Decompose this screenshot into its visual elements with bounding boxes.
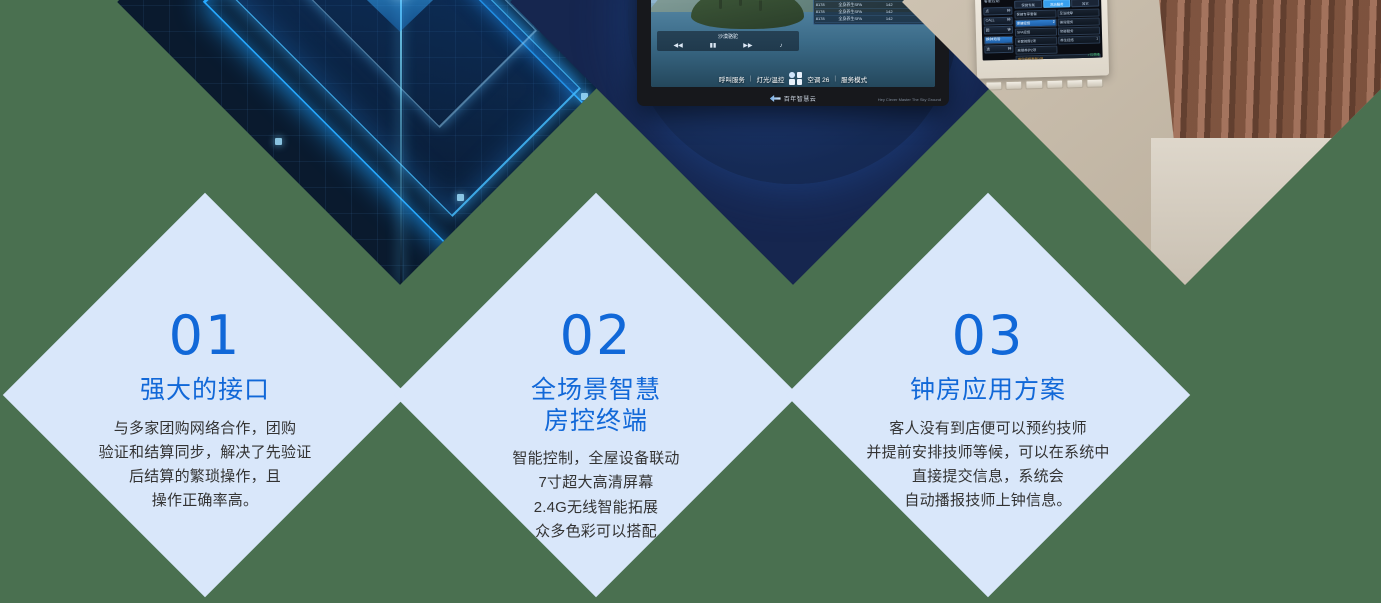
card-title: 强大的接口 bbox=[140, 375, 270, 406]
wall-control-panel[interactable]: 客服控制 点 钟 CALL 钟 圆 bbox=[974, 0, 1108, 78]
row-label: 全套按摩2项 bbox=[1017, 38, 1036, 43]
hard-key[interactable] bbox=[1025, 80, 1042, 89]
list-item[interactable]: SPA经络 bbox=[1014, 27, 1056, 36]
pause-icon[interactable]: ▮▮ bbox=[710, 42, 717, 49]
item-label: 换钟泡浴 bbox=[986, 37, 1001, 42]
item-label: 选 bbox=[986, 47, 990, 52]
brand-logo-icon bbox=[770, 95, 781, 102]
wallpaper-island bbox=[691, 0, 805, 29]
dock-divider: | bbox=[750, 75, 752, 82]
list-item[interactable]: 高端养护2项 bbox=[1015, 45, 1057, 54]
cell-guest: 8178 bbox=[816, 0, 839, 1]
hard-key[interactable] bbox=[1045, 79, 1062, 88]
card-number: 01 bbox=[169, 309, 242, 363]
hard-key[interactable] bbox=[1065, 79, 1082, 88]
wallpaper-tree bbox=[759, 0, 762, 11]
item-value: 钟 bbox=[1006, 8, 1010, 13]
panel-status-badge: ✓已就绪 bbox=[1087, 51, 1099, 56]
cell-item: 全身养生SPA bbox=[838, 0, 886, 1]
room-floor bbox=[1151, 138, 1381, 285]
panel-tab-active[interactable]: 洗浴服务 bbox=[1042, 0, 1070, 8]
tablet-brand-subtext: Hey Clever Master The Sky Ground bbox=[878, 97, 941, 102]
item-label: 圆 bbox=[985, 28, 989, 33]
spark-particle bbox=[275, 138, 282, 145]
row-label: 足浴按摩 bbox=[1059, 10, 1073, 15]
light-beam bbox=[400, 0, 402, 285]
panel-sidebar-item[interactable]: 选 钟 bbox=[984, 44, 1013, 53]
cell-duration: 142 bbox=[886, 9, 905, 15]
card-number: 03 bbox=[952, 309, 1025, 363]
panel-tab[interactable]: 其它 bbox=[1071, 0, 1099, 7]
music-icon[interactable]: ♪ bbox=[779, 42, 782, 48]
cell-duration: 142 bbox=[886, 16, 905, 22]
row-value: 1 bbox=[1096, 36, 1098, 41]
list-item[interactable]: 搓背服务 bbox=[1057, 17, 1099, 26]
panel-tab[interactable]: 保健专属 bbox=[1014, 0, 1042, 8]
spark-particle bbox=[457, 194, 464, 201]
prev-icon[interactable]: ◀◀ bbox=[673, 42, 682, 49]
media-controls[interactable]: ◀◀ ▮▮ ▶▶ ♪ bbox=[660, 42, 796, 49]
dock-item-service-mode[interactable]: 服务模式 bbox=[841, 73, 867, 83]
tablet-screen[interactable]: 22:35 SPA6房 ⌂ 26℃ ▤ 11/24 客人 bbox=[651, 0, 935, 87]
card-diamond-02[interactable]: 02 全场景智慧 房控终端 智能控制，全屋设备联动 7寸超大高清屏幕 2.4G无… bbox=[394, 193, 798, 597]
list-item[interactable]: 保健专享套餐 bbox=[1014, 9, 1056, 18]
brand-name: 百年智慧云 bbox=[784, 94, 817, 103]
dock-divider: | bbox=[834, 75, 836, 82]
card-body: 智能控制，全屋设备联动 7寸超大高清屏幕 2.4G无线智能拓展 众多色彩可以搭配 bbox=[512, 447, 679, 544]
media-player[interactable]: 沙漠骆驼 ◀◀ ▮▮ ▶▶ ♪ bbox=[657, 31, 799, 51]
item-value: 钟 bbox=[1007, 46, 1011, 51]
item-label: CALL bbox=[985, 18, 994, 23]
item-value: 钟 bbox=[1007, 27, 1011, 32]
hard-key[interactable] bbox=[1005, 80, 1022, 89]
next-icon[interactable]: ▶▶ bbox=[743, 42, 752, 49]
panel-sidebar[interactable]: 点 钟 CALL 钟 圆 钟 bbox=[983, 6, 1013, 58]
item-label: 点 bbox=[985, 9, 989, 14]
list-item[interactable]: 全套按摩2项 bbox=[1015, 36, 1057, 45]
cell-item: 全身养生SPA bbox=[838, 16, 886, 22]
card-title: 全场景智慧 房控终端 bbox=[531, 375, 661, 436]
row-label: 高端养护2项 bbox=[1017, 47, 1036, 52]
cell-item: 全身养生SPA bbox=[838, 2, 886, 8]
card-diamond-03[interactable]: 03 钟房应用方案 客人没有到店便可以预约技师 并提前安排技师等候，可以在系统中… bbox=[786, 193, 1190, 597]
list-item[interactable]: 养生经络 1 bbox=[1058, 35, 1100, 44]
floor-plant bbox=[1223, 164, 1343, 274]
panel-screen[interactable]: 客服控制 点 钟 CALL 钟 圆 bbox=[981, 0, 1103, 60]
card-body: 与多家团购网络合作，团购 验证和结算同步，解决了先验证 后结算的繁琐操作，且 操… bbox=[99, 417, 312, 514]
panel-sidebar-item-selected[interactable]: 换钟泡浴 bbox=[984, 35, 1013, 44]
table-row: 8178 全身养生SPA 142 下钟 bbox=[815, 16, 930, 23]
row-label: 养生经络 bbox=[1060, 37, 1074, 42]
panel-sidebar-item[interactable]: 圆 钟 bbox=[983, 25, 1012, 34]
panel-sidebar-item[interactable]: CALL 钟 bbox=[983, 16, 1012, 25]
list-item[interactable]: 足浴按摩 bbox=[1057, 8, 1099, 17]
cell-guest: 8178 bbox=[816, 9, 839, 15]
wallpaper-tree bbox=[739, 0, 742, 6]
tablet-device: CHUWO 22:35 SP bbox=[637, 0, 949, 106]
hard-key[interactable] bbox=[1086, 78, 1103, 87]
wallpaper-tree bbox=[719, 0, 722, 9]
apps-grid-icon[interactable] bbox=[789, 72, 802, 85]
panel-sidebar-item[interactable]: 点 钟 bbox=[983, 6, 1012, 15]
item-value: 钟 bbox=[1007, 17, 1011, 22]
row-label: 豪华经络套餐2项 bbox=[1017, 56, 1043, 61]
dock-item-aircon[interactable]: 空调 26 bbox=[807, 74, 829, 84]
card-title: 钟房应用方案 bbox=[910, 375, 1066, 406]
row-label: 保健专享套餐 bbox=[1016, 11, 1036, 17]
cell-guest: 8178 bbox=[816, 2, 839, 8]
cell-item: 全身养生SPA bbox=[838, 9, 886, 15]
panel-tabs[interactable]: 保健专属 洗浴服务 其它 bbox=[1014, 0, 1099, 8]
card-diamond-01[interactable]: 01 强大的接口 与多家团购网络合作，团购 验证和结算同步，解决了先验证 后结算… bbox=[3, 193, 407, 597]
card-body: 客人没有到店便可以预约技师 并提前安排技师等候，可以在系统中 直接提交信息，系统… bbox=[866, 417, 1109, 514]
screen-dock[interactable]: 呼叫服务 | 灯光/温控 空调 26 | 服务模式 bbox=[651, 72, 935, 85]
list-item-selected[interactable]: 保健经络 2 bbox=[1014, 18, 1056, 27]
row-label: 修脚服务 bbox=[1059, 28, 1073, 33]
infographic-canvas: CHUWO 22:35 SP bbox=[0, 0, 1381, 603]
media-title: 沙漠骆驼 bbox=[660, 33, 796, 40]
row-label: 保健经络 bbox=[1016, 20, 1030, 25]
card-number: 02 bbox=[560, 309, 633, 363]
spark-particle bbox=[581, 93, 588, 100]
dock-item-call[interactable]: 呼叫服务 bbox=[719, 73, 745, 83]
dock-item-lighting[interactable]: 灯光/温控 bbox=[757, 73, 785, 83]
panel-title: 客服控制 bbox=[984, 0, 1000, 4]
panel-main[interactable]: 保健专属 洗浴服务 其它 保健专享套餐 足浴按摩 bbox=[1014, 0, 1100, 57]
tablet-brand-bottom: 百年智慧云 bbox=[770, 94, 817, 103]
cell-guest: 8178 bbox=[816, 16, 839, 22]
row-label: 搓背服务 bbox=[1059, 19, 1073, 24]
list-item[interactable]: 修脚服务 bbox=[1057, 26, 1099, 35]
row-value: 2 bbox=[1052, 19, 1054, 24]
row-label: SPA经络 bbox=[1016, 29, 1029, 34]
